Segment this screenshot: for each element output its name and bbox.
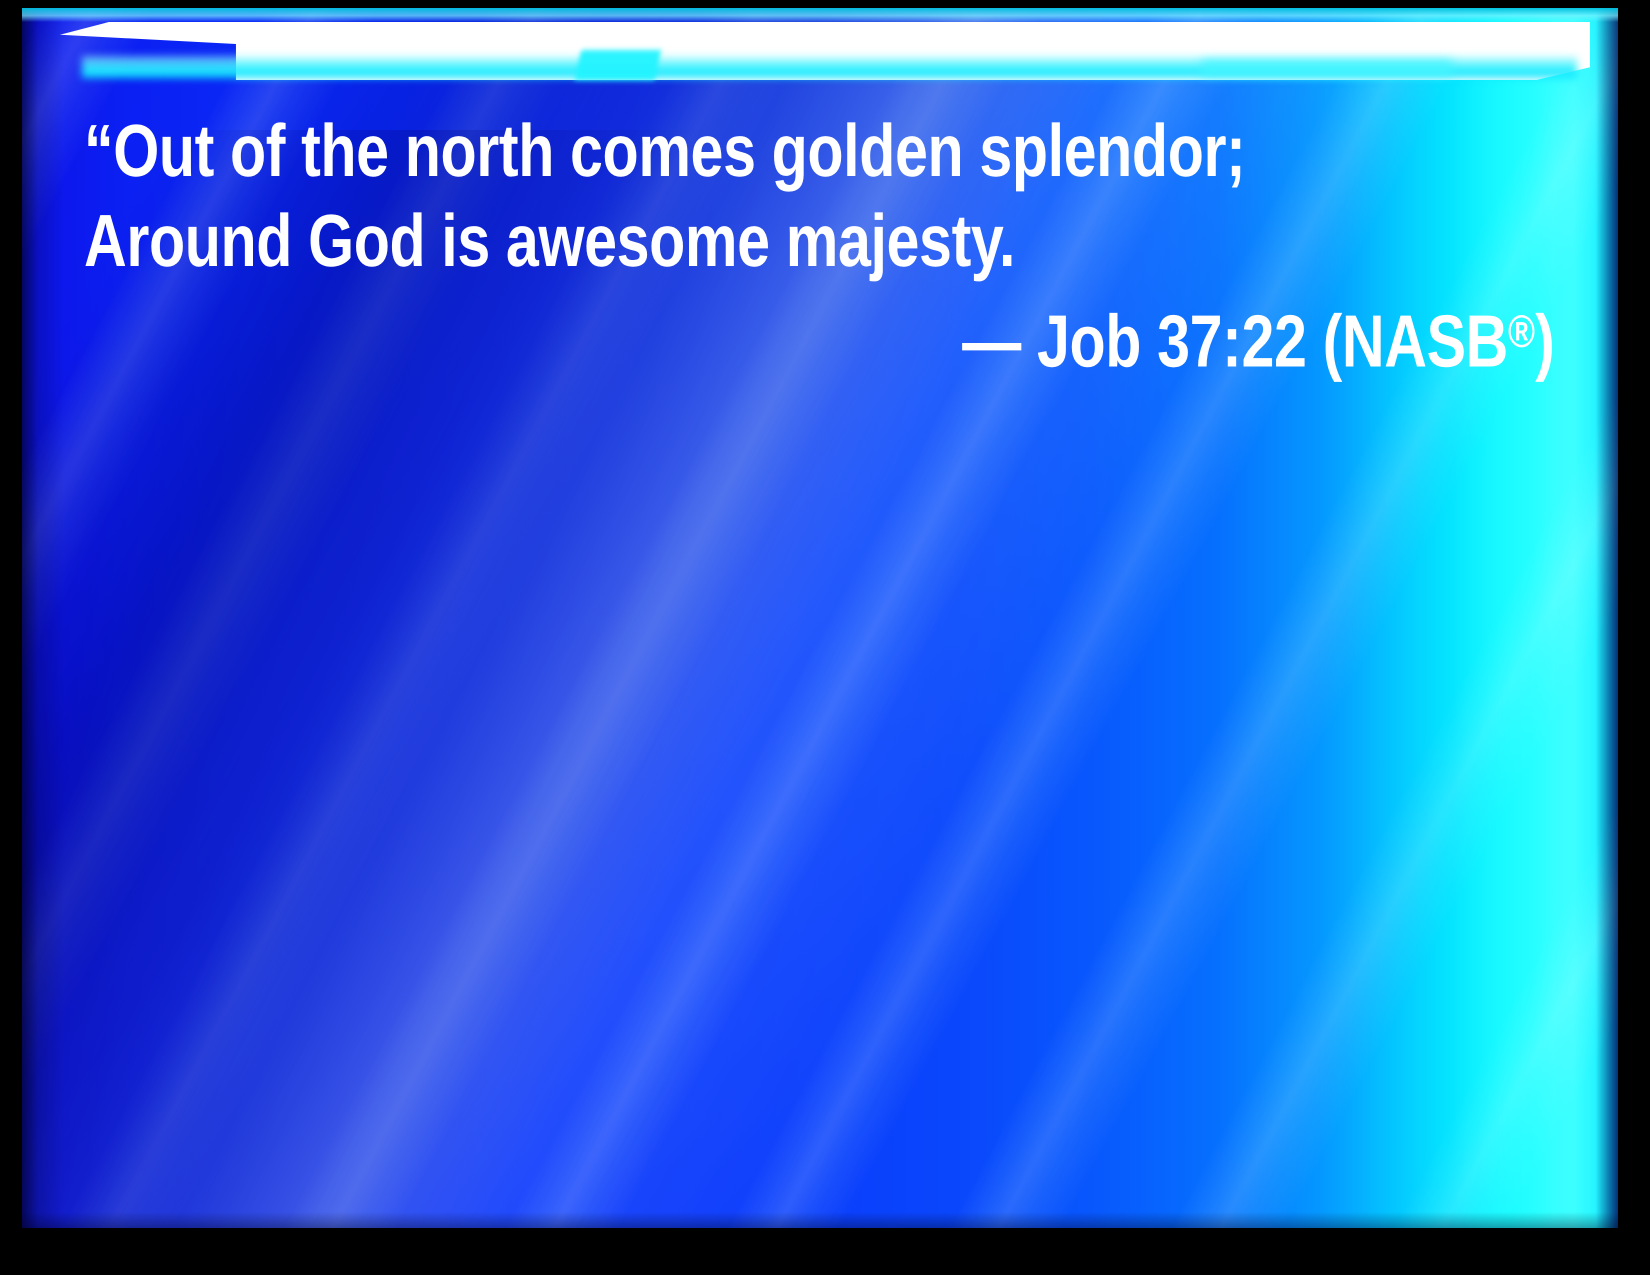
top-banner [22,8,1618,100]
verse-attribution-text: — Job 37:22 (NASB [962,299,1508,382]
top-banner-cyan-patch [575,50,661,80]
slide-canvas: “Out of the north comes golden splendor;… [0,0,1650,1275]
registered-trademark-icon: ® [1508,305,1535,357]
frame-top-edge [0,0,1650,8]
frame-left-edge [0,0,22,1275]
top-banner-upper-edge [22,8,1618,22]
verse-text-block: “Out of the north comes golden splendor;… [84,106,1554,386]
frame-bottom-edge [0,1228,1650,1275]
slide-background: “Out of the north comes golden splendor;… [22,8,1618,1228]
verse-line-2: Around God is awesome majesty. [84,196,1554,286]
top-banner-cyan-streak [1202,60,1452,76]
verse-attribution: — Job 37:22 (NASB®) [84,286,1554,386]
frame-right-edge [1618,0,1650,1275]
verse-attribution-close-paren: ) [1535,299,1554,382]
verse-line-1: “Out of the north comes golden splendor; [84,106,1554,196]
